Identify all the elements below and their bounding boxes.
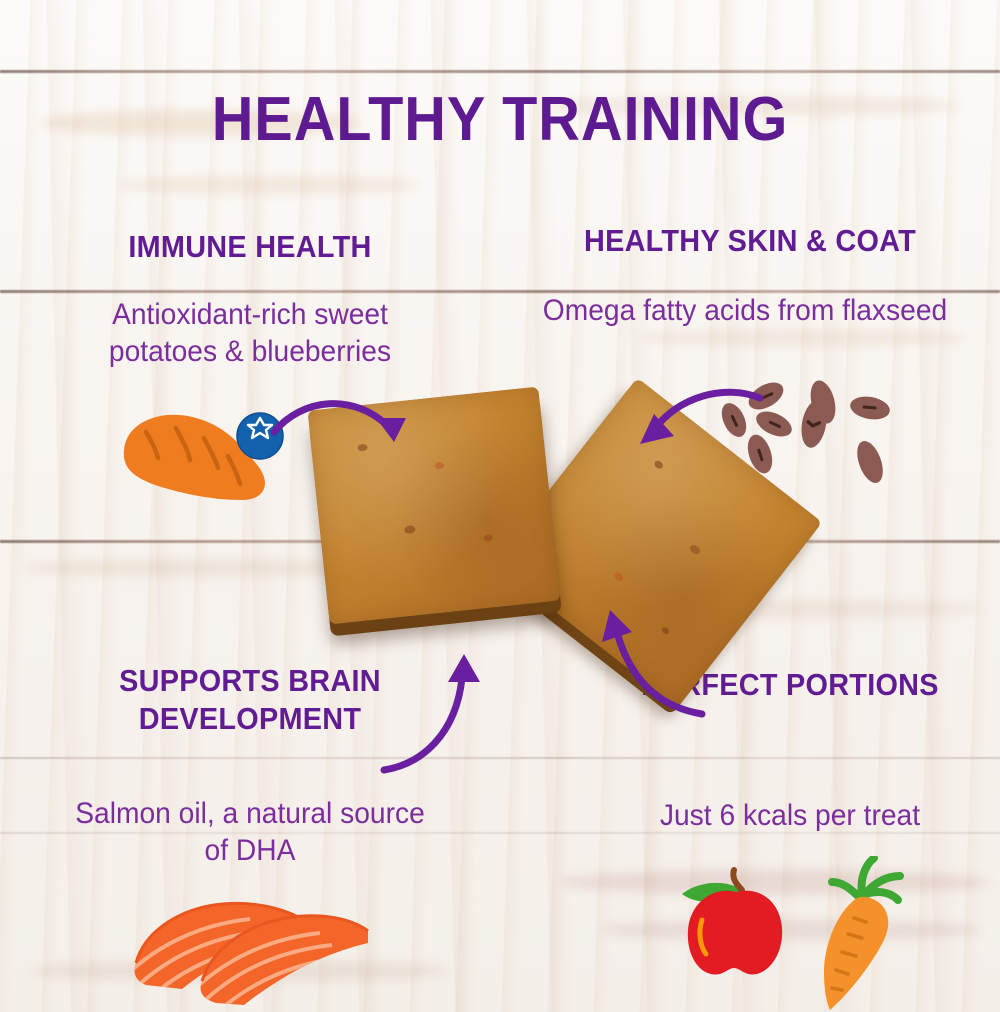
wood-grain	[120, 176, 420, 194]
carrot-icon	[790, 856, 930, 1012]
benefit-body-perfect-portions: Just 6 kcals per treat	[611, 797, 968, 834]
arrow-to-treat-healthy-skin-coat	[628, 386, 768, 466]
wood-grain	[640, 330, 970, 346]
page-title: HEALTHY TRAINING	[35, 84, 965, 155]
salmon-fillet-icon	[130, 885, 370, 1010]
apple-icon	[672, 862, 804, 992]
wood-plank-seam	[0, 757, 1000, 759]
wood-plank-seam	[0, 70, 1000, 73]
arrow-to-treat-supports-brain-development	[378, 648, 498, 778]
benefit-heading-immune-health: IMMUNE HEALTH	[64, 228, 436, 266]
benefit-body-supports-brain-development: Salmon oil, a natural source of DHA	[62, 795, 438, 869]
benefit-heading-healthy-skin-coat: HEALTHY SKIN & COAT	[536, 222, 964, 260]
poster-canvas: HEALTHY TRAINING IMMUNE HEALTH Antioxida…	[0, 0, 1000, 1012]
benefit-body-healthy-skin-coat: Omega fatty acids from flaxseed	[510, 292, 980, 329]
arrow-to-treat-perfect-portions	[580, 596, 710, 726]
arrow-to-treat-immune-health	[268, 388, 428, 468]
benefit-body-immune-health: Antioxidant-rich sweet potatoes & bluebe…	[62, 296, 438, 370]
